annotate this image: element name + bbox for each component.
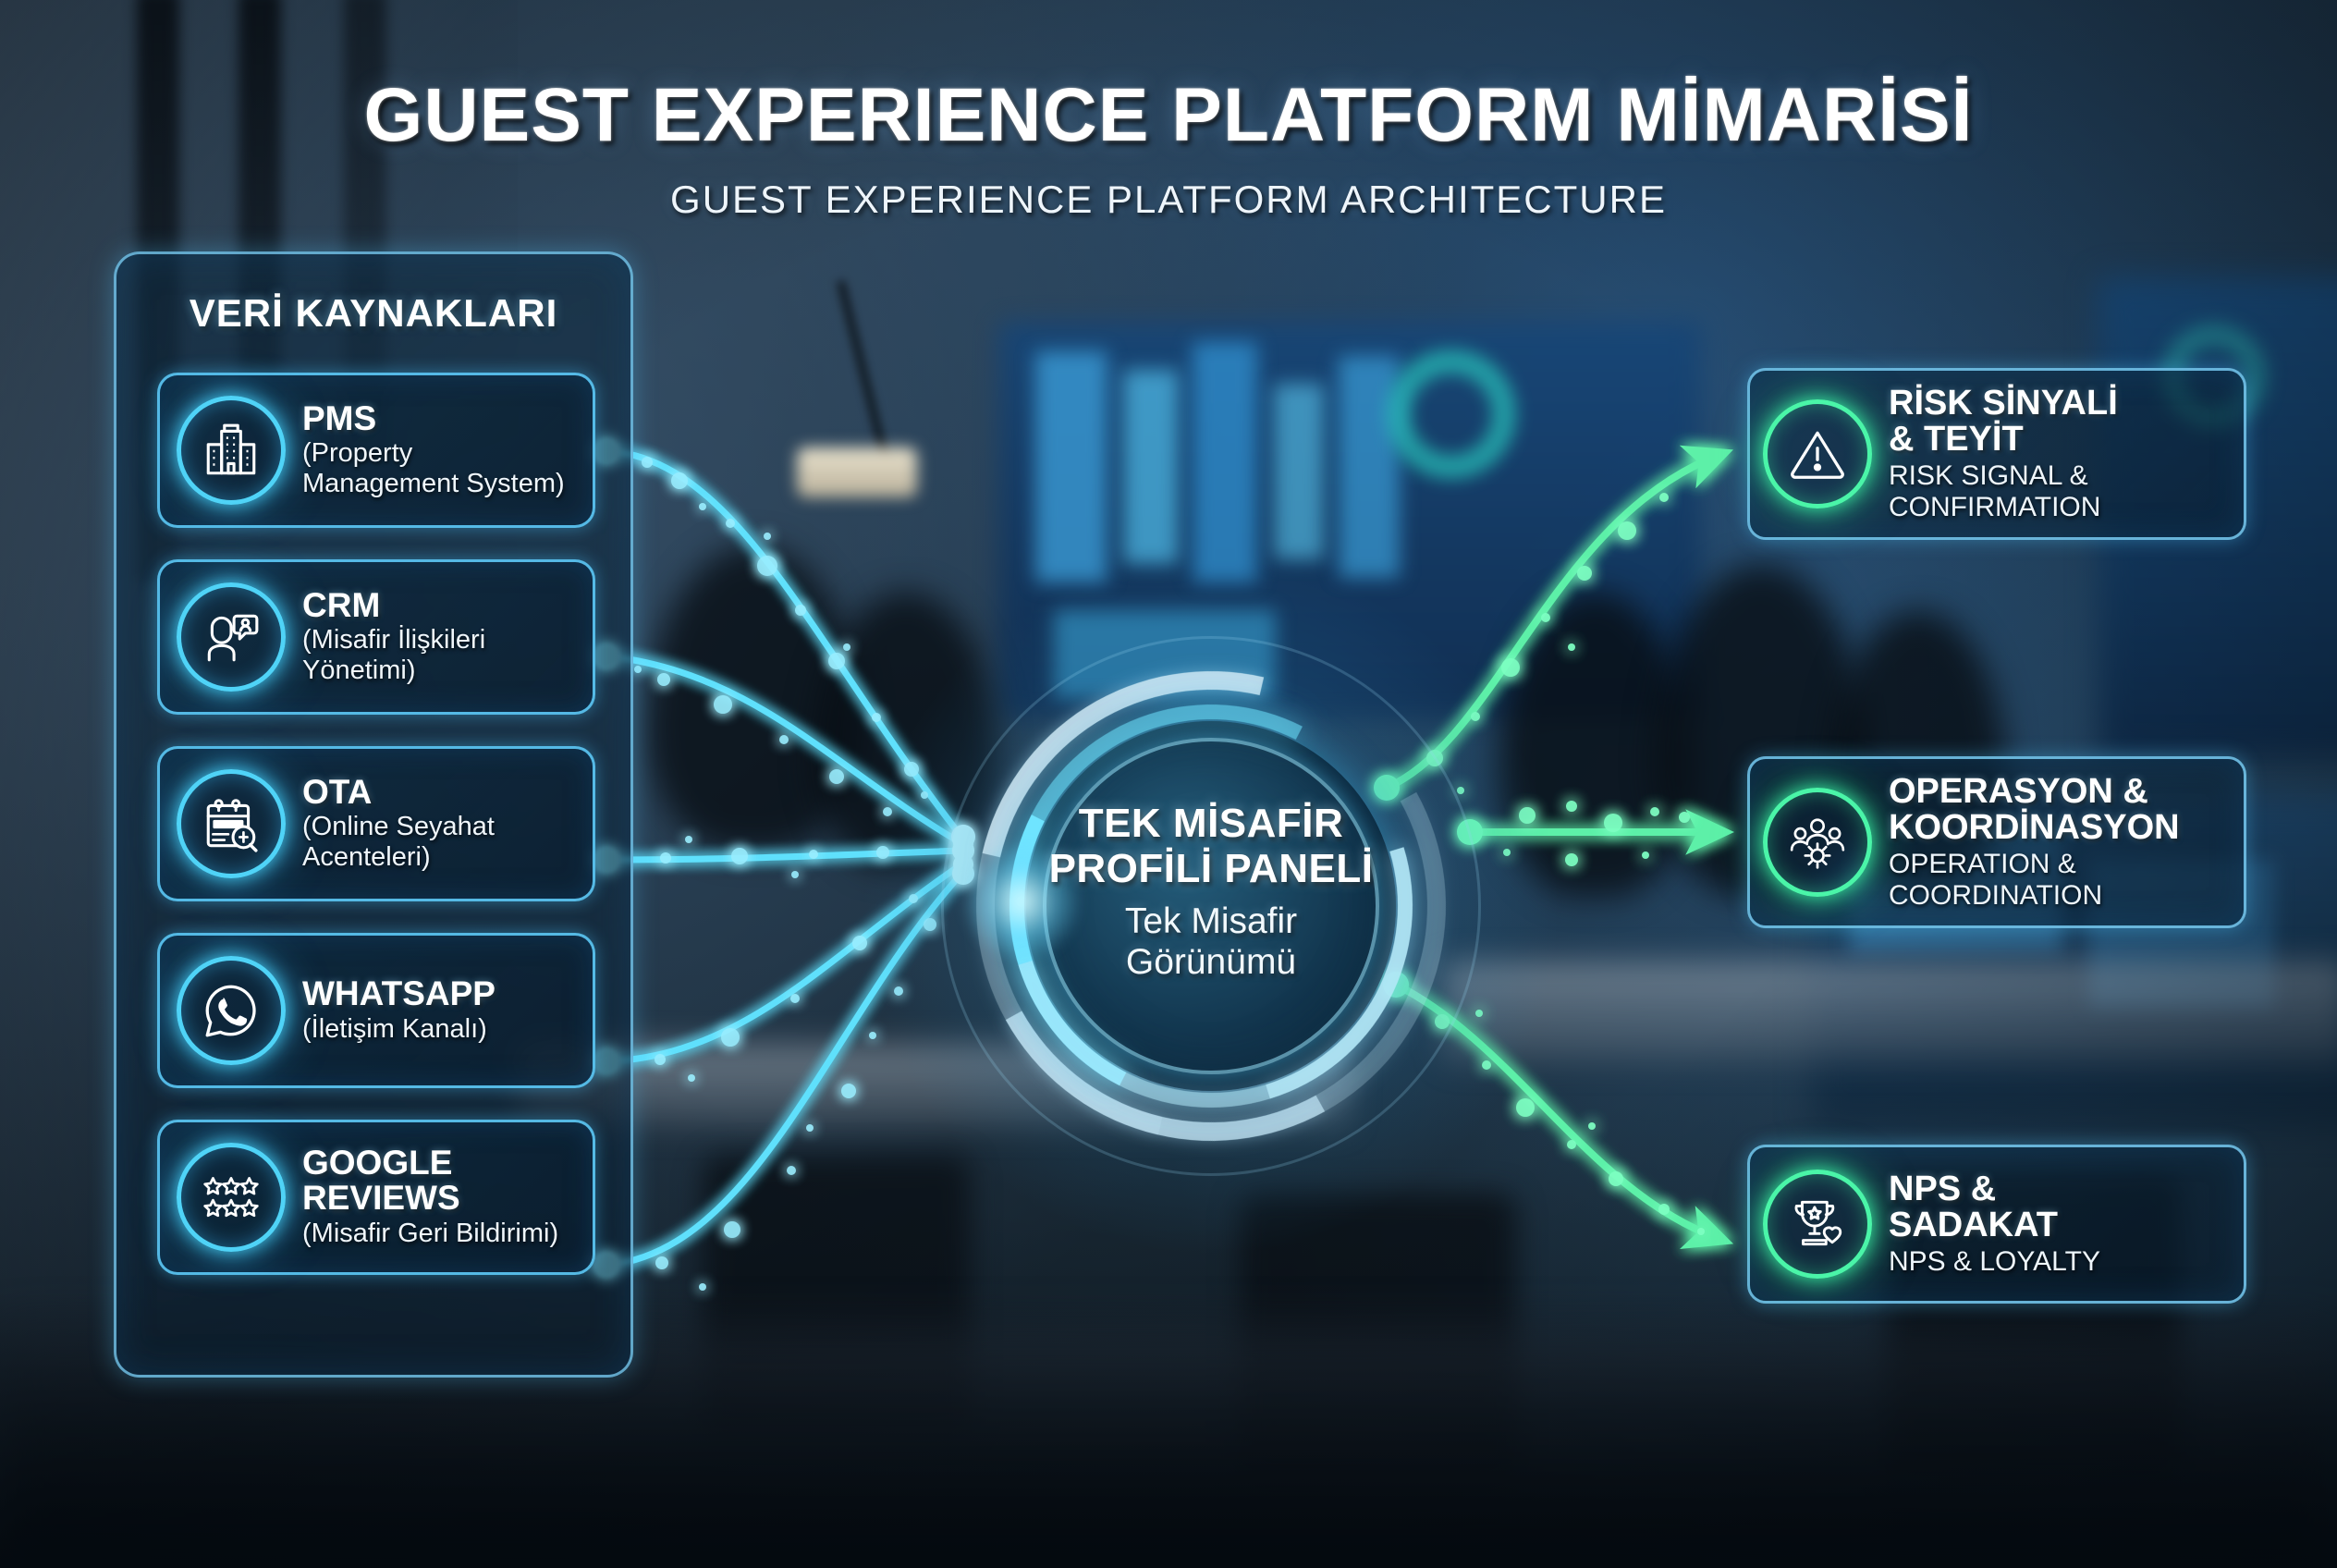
output-name: RİSK SİNYALİ& TEYİT <box>1889 386 2231 459</box>
output-name: OPERASYON &KOORDİNASYON <box>1889 774 2231 847</box>
data-source-card-crm[interactable]: CRM (Misafir İlişkileriYönetimi) <box>157 559 595 715</box>
data-source-card-google-reviews[interactable]: GOOGLEREVIEWS (Misafir Geri Bildirimi) <box>157 1120 595 1275</box>
data-source-desc: (Online SeyahatAcenteleri) <box>302 812 576 873</box>
hub-title: TEK MİSAFİRPROFİLİ PANELİ <box>980 801 1442 892</box>
building-icon <box>177 396 286 505</box>
trophy-heart-icon <box>1763 1170 1872 1279</box>
output-desc: NPS & LOYALTY <box>1889 1246 2231 1278</box>
output-card-nps-loyalty[interactable]: NPS &SADAKAT NPS & LOYALTY <box>1747 1145 2246 1304</box>
output-desc: RISK SIGNAL &CONFIRMATION <box>1889 460 2231 522</box>
booking-search-icon <box>177 769 286 878</box>
data-source-card-pms[interactable]: PMS (PropertyManagement System) <box>157 373 595 528</box>
data-source-name: CRM <box>302 588 576 623</box>
data-source-card-whatsapp[interactable]: WHATSAPP (İletişim Kanalı) <box>157 933 595 1088</box>
six-stars-icon <box>177 1143 286 1252</box>
warning-triangle-icon <box>1763 399 1872 508</box>
page-subtitle: GUEST EXPERIENCE PLATFORM ARCHITECTURE <box>0 178 2337 222</box>
data-source-desc: (Misafir Geri Bildirimi) <box>302 1219 576 1249</box>
infographic-canvas: GUEST EXPERIENCE PLATFORM MİMARİSİ GUEST… <box>0 0 2337 1568</box>
data-source-name: OTA <box>302 775 576 810</box>
hub-subtitle: Tek MisafirGörünümü <box>980 901 1442 984</box>
data-source-name: GOOGLEREVIEWS <box>302 1145 576 1215</box>
data-source-name: PMS <box>302 401 576 436</box>
output-card-operation-coordination[interactable]: OPERASYON &KOORDİNASYON OPERATION &COORD… <box>1747 756 2246 928</box>
output-card-risk-signal[interactable]: RİSK SİNYALİ& TEYİT RISK SIGNAL &CONFIRM… <box>1747 368 2246 540</box>
data-source-desc: (PropertyManagement System) <box>302 438 576 499</box>
customer-support-icon <box>177 582 286 692</box>
output-desc: OPERATION &COORDINATION <box>1889 849 2231 911</box>
data-source-desc: (İletişim Kanalı) <box>302 1014 576 1045</box>
page-title: GUEST EXPERIENCE PLATFORM MİMARİSİ <box>0 72 2337 159</box>
data-sources-title: VERİ KAYNAKLARI <box>116 291 630 336</box>
data-sources-panel: VERİ KAYNAKLARI PMS (PropertyManagement … <box>114 251 633 1378</box>
data-source-desc: (Misafir İlişkileriYönetimi) <box>302 625 576 686</box>
central-hub-single-guest-profile[interactable]: TEK MİSAFİRPROFİLİ PANELİ Tek MisafirGör… <box>924 619 1498 1193</box>
hub-label-group: TEK MİSAFİRPROFİLİ PANELİ Tek MisafirGör… <box>980 801 1442 983</box>
data-sources-list: PMS (PropertyManagement System) CRM (M <box>157 373 595 1306</box>
team-gear-icon <box>1763 788 1872 897</box>
data-source-card-ota[interactable]: OTA (Online SeyahatAcenteleri) <box>157 746 595 901</box>
data-source-name: WHATSAPP <box>302 976 576 1011</box>
page-header: GUEST EXPERIENCE PLATFORM MİMARİSİ GUEST… <box>0 72 2337 222</box>
output-name: NPS &SADAKAT <box>1889 1171 2231 1244</box>
whatsapp-icon <box>177 956 286 1065</box>
